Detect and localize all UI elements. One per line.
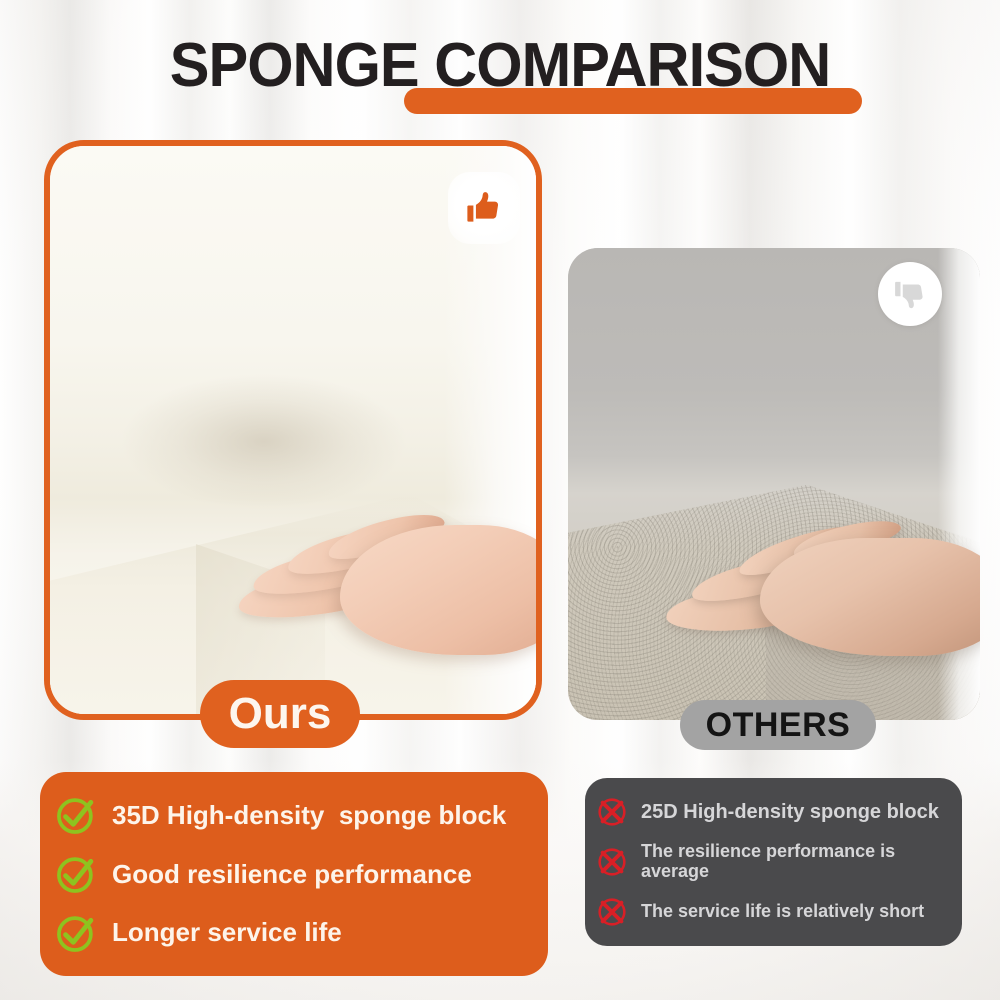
others-hand (664, 528, 980, 668)
thumbs-up-icon (465, 189, 503, 227)
title-text: SPONGE COMPARISON (20, 26, 980, 106)
cross-circle-icon (595, 845, 629, 879)
ours-hand (230, 521, 542, 671)
list-item: The service life is relatively short (595, 895, 950, 929)
cross-circle-icon (595, 795, 629, 829)
check-circle-icon (54, 793, 98, 837)
thumbs-down-icon (893, 277, 927, 311)
list-item: 35D High-density sponge block (54, 793, 532, 837)
others-feature-list: 25D High-density sponge block The resili… (585, 778, 962, 946)
list-item: 25D High-density sponge block (595, 795, 950, 829)
ours-feature-list: 35D High-density sponge block Good resil… (40, 772, 548, 976)
cross-circle-icon (595, 895, 629, 929)
list-item: Good resilience performance (54, 852, 532, 896)
check-circle-icon (54, 852, 98, 896)
thumbs-down-badge (878, 262, 942, 326)
ours-label-text: Ours (229, 689, 332, 739)
list-item-label: 25D High-density sponge block (641, 801, 939, 823)
check-circle-icon (54, 911, 98, 955)
others-label-text: OTHERS (706, 706, 851, 745)
list-item-label: 35D High-density sponge block (112, 801, 506, 830)
list-item: The resilience performance is average (595, 842, 950, 882)
thumbs-up-badge (448, 172, 520, 244)
ours-label-pill: Ours (200, 680, 360, 748)
page-title: SPONGE COMPARISON (0, 26, 1000, 116)
others-label-pill: OTHERS (680, 700, 876, 750)
list-item-label: Good resilience performance (112, 860, 472, 889)
list-item-label: Longer service life (112, 918, 342, 947)
list-item: Longer service life (54, 911, 532, 955)
list-item-label: The service life is relatively short (641, 902, 924, 922)
comparison-infographic: SPONGE COMPARISON (0, 0, 1000, 1000)
list-item-label: The resilience performance is average (641, 842, 950, 882)
